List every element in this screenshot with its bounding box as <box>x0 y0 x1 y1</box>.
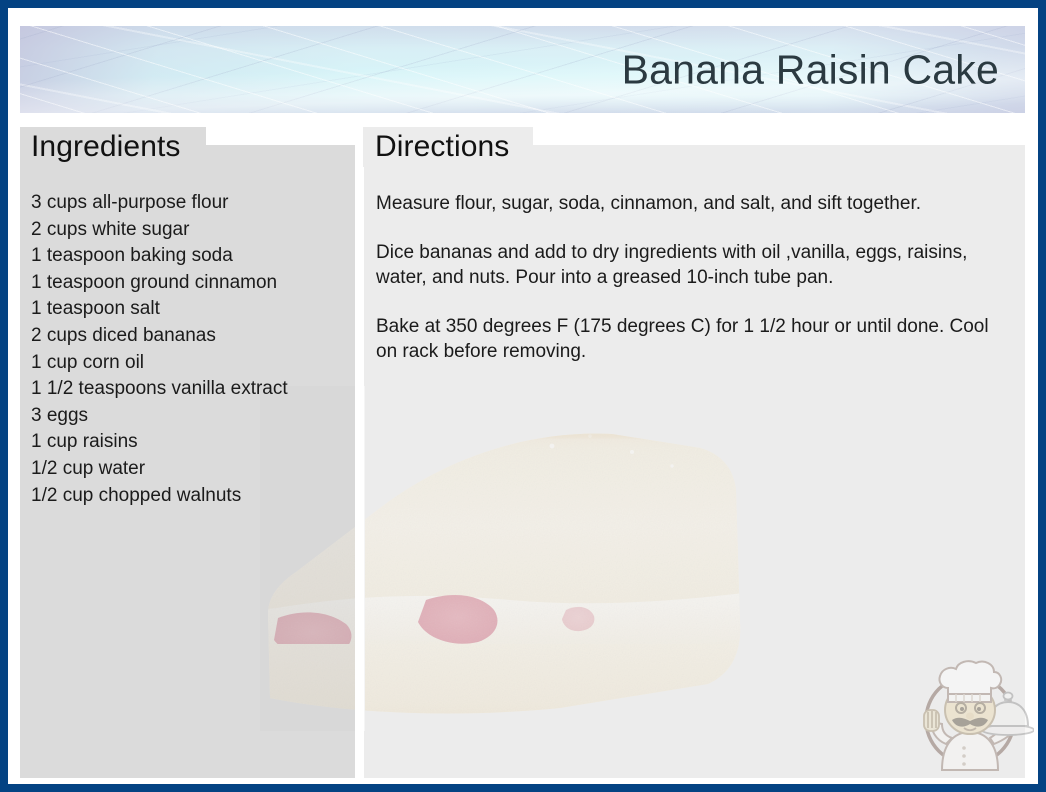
direction-step: Bake at 350 degrees F (175 degrees C) fo… <box>376 314 999 365</box>
title-banner: Banana Raisin Cake <box>20 26 1025 113</box>
ingredient-item: 1 cup raisins <box>31 429 360 456</box>
directions-steps: Measure flour, sugar, soda, cinnamon, an… <box>363 191 1025 365</box>
ingredient-item: 2 cups diced bananas <box>31 323 360 350</box>
ingredients-list: 3 cups all-purpose flour2 cups white sug… <box>20 190 360 509</box>
recipe-card: Banana Raisin Cake <box>8 8 1038 784</box>
ingredient-item: 1 teaspoon baking soda <box>31 243 360 270</box>
direction-step: Measure flour, sugar, soda, cinnamon, an… <box>376 191 999 217</box>
ingredients-heading: Ingredients <box>31 130 181 164</box>
ingredient-item: 1 teaspoon ground cinnamon <box>31 270 360 297</box>
directions-heading: Directions <box>375 130 509 164</box>
chef-logo-icon <box>906 648 1034 778</box>
page-title: Banana Raisin Cake <box>622 46 999 93</box>
ingredient-item: 1/2 cup chopped walnuts <box>31 483 360 510</box>
ingredient-item: 1 teaspoon salt <box>31 296 360 323</box>
ingredient-item: 3 cups all-purpose flour <box>31 190 360 217</box>
direction-step: Dice bananas and add to dry ingredients … <box>376 240 999 291</box>
directions-heading-tab: Directions <box>363 127 533 167</box>
ingredients-heading-tab: Ingredients <box>20 127 206 167</box>
column-divider <box>355 127 364 778</box>
ingredient-item: 3 eggs <box>31 403 360 430</box>
ingredient-item: 1 cup corn oil <box>31 350 360 377</box>
ingredient-item: 1/2 cup water <box>31 456 360 483</box>
ingredient-item: 1 1/2 teaspoons vanilla extract <box>31 376 360 403</box>
ingredient-item: 2 cups white sugar <box>31 217 360 244</box>
